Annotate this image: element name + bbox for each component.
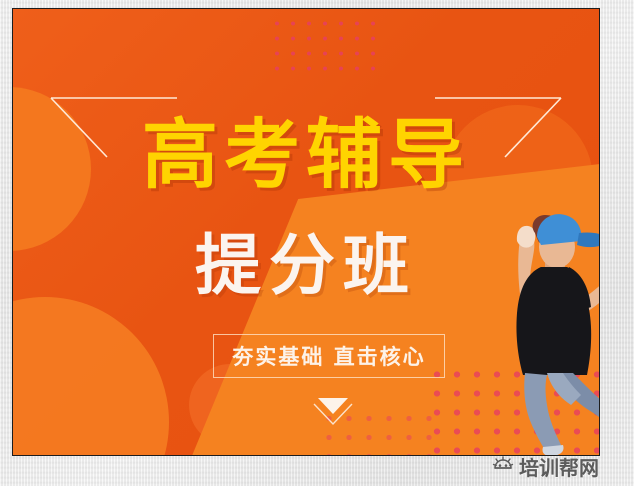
watermark-text: 培训帮网 bbox=[519, 452, 599, 481]
tagline-text: 夯实基础 直击核心 bbox=[232, 341, 425, 371]
celebrating-student-illustration bbox=[483, 195, 600, 456]
chevron-down-icon bbox=[309, 394, 357, 428]
page-background: 高考辅导 提分班 夯实基础 直击核心 bbox=[0, 0, 634, 486]
tagline-box: 夯实基础 直击核心 bbox=[213, 334, 445, 378]
watermark: 培训帮网 bbox=[492, 452, 599, 481]
sun-face-icon bbox=[492, 456, 514, 478]
dot-grid-top bbox=[265, 13, 381, 75]
poster-banner: 高考辅导 提分班 夯实基础 直击核心 bbox=[12, 8, 600, 456]
poster-headline: 高考辅导 bbox=[13, 117, 599, 193]
